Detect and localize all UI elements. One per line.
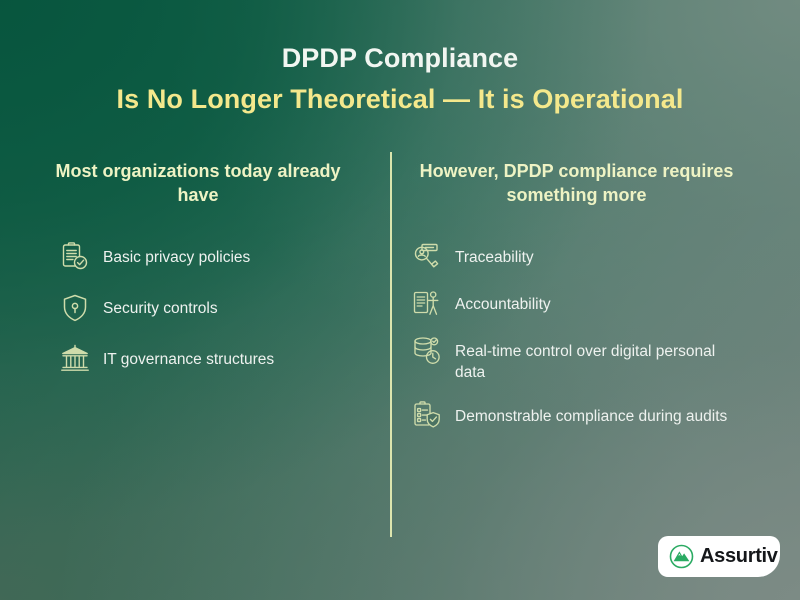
right-column: However, DPDP compliance requires someth… [404, 160, 749, 452]
mountain-circle-icon [669, 544, 694, 569]
list-item: Accountability [404, 293, 749, 319]
right-column-heading: However, DPDP compliance requires someth… [404, 160, 749, 208]
list-item: Demonstrable compliance during audits [404, 405, 749, 431]
list-item-label: Accountability [455, 293, 551, 315]
slide-canvas: DPDP Compliance Is No Longer Theoretical… [0, 0, 800, 600]
list-item: Basic privacy policies [28, 246, 368, 272]
page-title-line-1: DPDP Compliance [0, 42, 800, 74]
list-item-label: IT governance structures [103, 348, 274, 370]
list-item-label: Security controls [103, 297, 218, 319]
title-block: DPDP Compliance Is No Longer Theoretical… [0, 42, 800, 116]
page-title-line-2: Is No Longer Theoretical — It is Operati… [0, 83, 800, 115]
list-item: Security controls [28, 297, 368, 323]
left-column: Most organizations today already have Ba… [28, 160, 368, 399]
list-item-label: Real-time control over digital personal … [455, 340, 749, 384]
left-column-heading: Most organizations today already have [28, 160, 368, 208]
magnifier-trace-icon [412, 242, 442, 272]
list-item-label: Traceability [455, 246, 534, 268]
bank-building-icon [60, 344, 90, 374]
brand-name: Assurtiv [700, 545, 778, 568]
database-clock-icon [412, 336, 442, 366]
list-item-label: Basic privacy policies [103, 246, 250, 268]
column-divider [390, 152, 392, 537]
document-check-icon [60, 242, 90, 272]
list-item: Traceability [404, 246, 749, 272]
shield-lock-icon [60, 293, 90, 323]
list-item: IT governance structures [28, 348, 368, 374]
list-item: Real-time control over digital personal … [404, 340, 749, 384]
person-checklist-icon [412, 289, 442, 319]
list-item-label: Demonstrable compliance during audits [455, 405, 727, 427]
brand-logo-badge[interactable]: Assurtiv [658, 536, 780, 577]
clipboard-shield-check-icon [412, 401, 442, 431]
